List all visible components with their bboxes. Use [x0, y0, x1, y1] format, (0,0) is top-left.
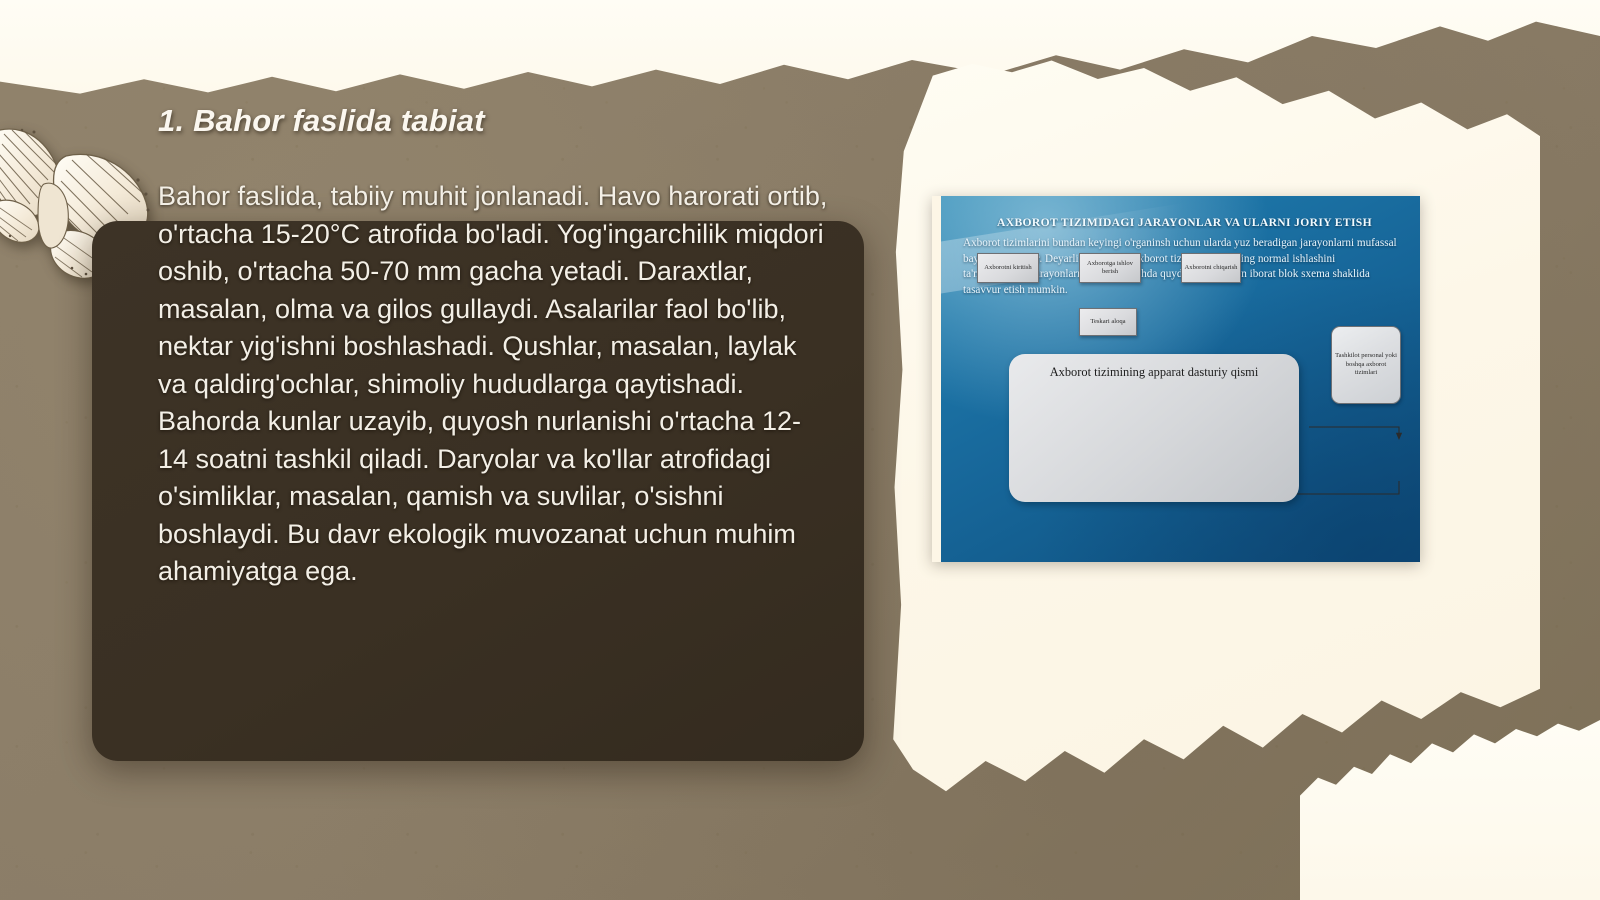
diagram-node-feedback: Teskari aloqa [1079, 308, 1137, 336]
diagram-node-input: Axborotni kiritish [977, 253, 1039, 283]
slide-background: AXBOROT TIZIMIDAGI JARAYONLAR VA ULARNI … [941, 196, 1420, 562]
diagram-node-process: Axborotga ishlov berish [1079, 253, 1141, 283]
diagram-container-label: Axborot tizimining apparat dasturiy qism… [1009, 365, 1299, 380]
diagram-container: Axborot tizimining apparat dasturiy qism… [1009, 354, 1299, 502]
embedded-presentation-image[interactable]: AXBOROT TIZIMIDAGI JARAYONLAR VA ULARNI … [932, 196, 1420, 562]
body-paragraph: Bahor faslida, tabiiy muhit jonlanadi. H… [158, 178, 830, 591]
page-title: 1. Bahor faslida tabiat [158, 103, 898, 139]
diagram-node-output: Axborotni chiqarish [1181, 253, 1241, 283]
slide-canvas: 1. Bahor faslida tabiat Bahor faslida, t… [0, 0, 1600, 900]
diagram-node-external: Tashkilot personal yoki boshqa axborot t… [1331, 326, 1401, 404]
